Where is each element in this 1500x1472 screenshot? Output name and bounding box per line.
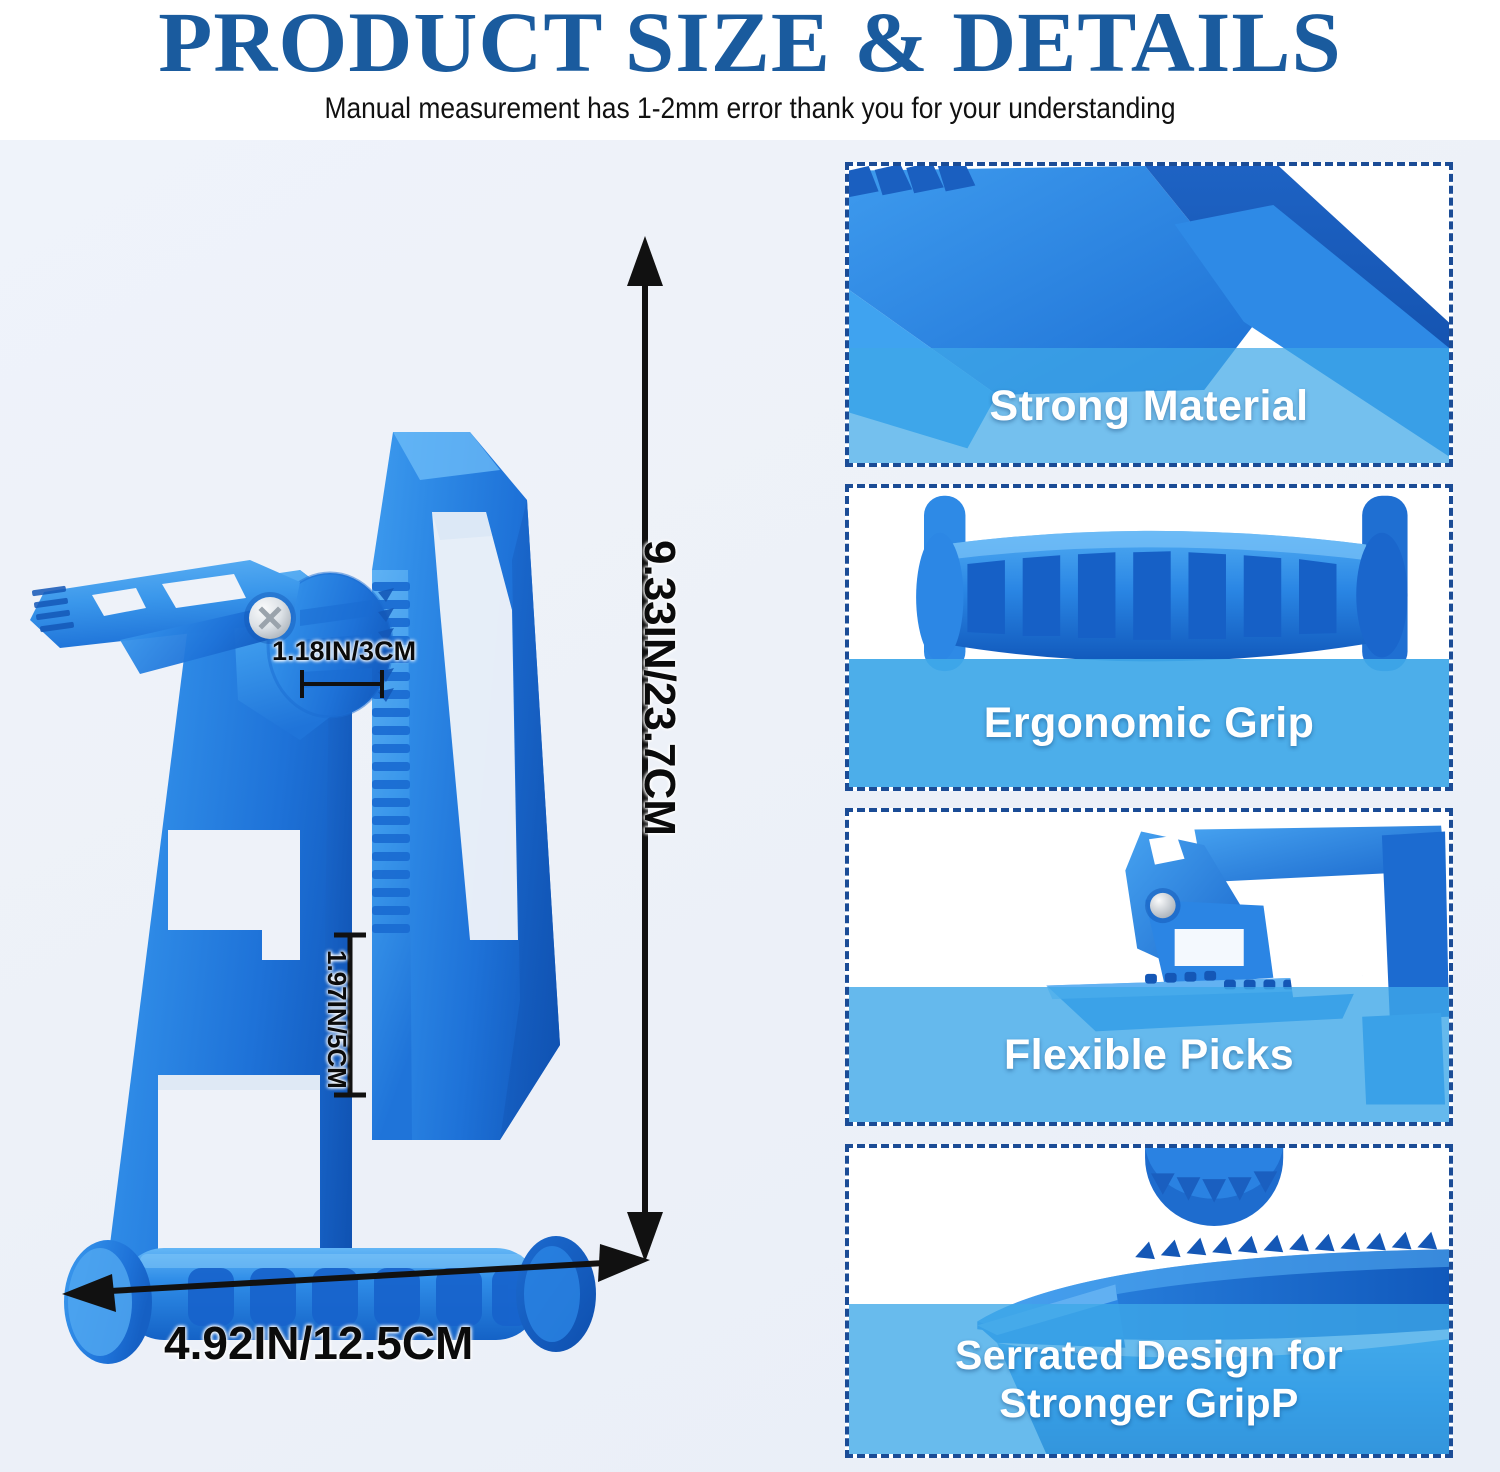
product-illustration [0,140,840,1472]
content-stage: 1.18IN/3CM 1.97IN/5CM 9.33IN/23.7CM 4.92… [0,140,1500,1472]
feature-caption-text: Ergonomic Grip [984,697,1315,749]
feature-caption: Flexible Picks [849,987,1449,1122]
feature-caption-line1: Serrated Design for [955,1331,1343,1379]
feature-panel-serrated-design: Serrated Design for Stronger GripP [845,1144,1453,1458]
page-subtitle: Manual measurement has 1-2mm error thank… [90,90,1410,128]
page-title: PRODUCT SIZE & DETAILS [0,0,1500,88]
feature-panel-strong-material: Strong Material [845,162,1453,467]
header-banner: PRODUCT SIZE & DETAILS Manual measuremen… [0,0,1500,140]
feature-panel-list: Strong Material [845,162,1453,1458]
product-dimension-diagram: 1.18IN/3CM 1.97IN/5CM 9.33IN/23.7CM 4.92… [0,140,840,1472]
dimension-label-jaw-width: 1.18IN/3CM [272,636,416,667]
dimension-label-overall-height: 9.33IN/23.7CM [634,540,684,836]
feature-caption: Ergonomic Grip [849,659,1449,787]
feature-caption-text: Strong Material [990,380,1309,432]
feature-panel-flexible-picks: Flexible Picks [845,808,1453,1126]
dimension-label-inner-opening: 1.97IN/5CM [321,950,352,1089]
feature-caption: Strong Material [849,348,1449,463]
feature-caption-text: Flexible Picks [1004,1029,1294,1081]
feature-caption: Serrated Design for Stronger GripP [849,1304,1449,1454]
feature-caption-line2: Stronger GripP [999,1379,1298,1427]
feature-panel-ergonomic-grip: Ergonomic Grip [845,484,1453,791]
dimension-label-overall-width: 4.92IN/12.5CM [164,1316,473,1370]
